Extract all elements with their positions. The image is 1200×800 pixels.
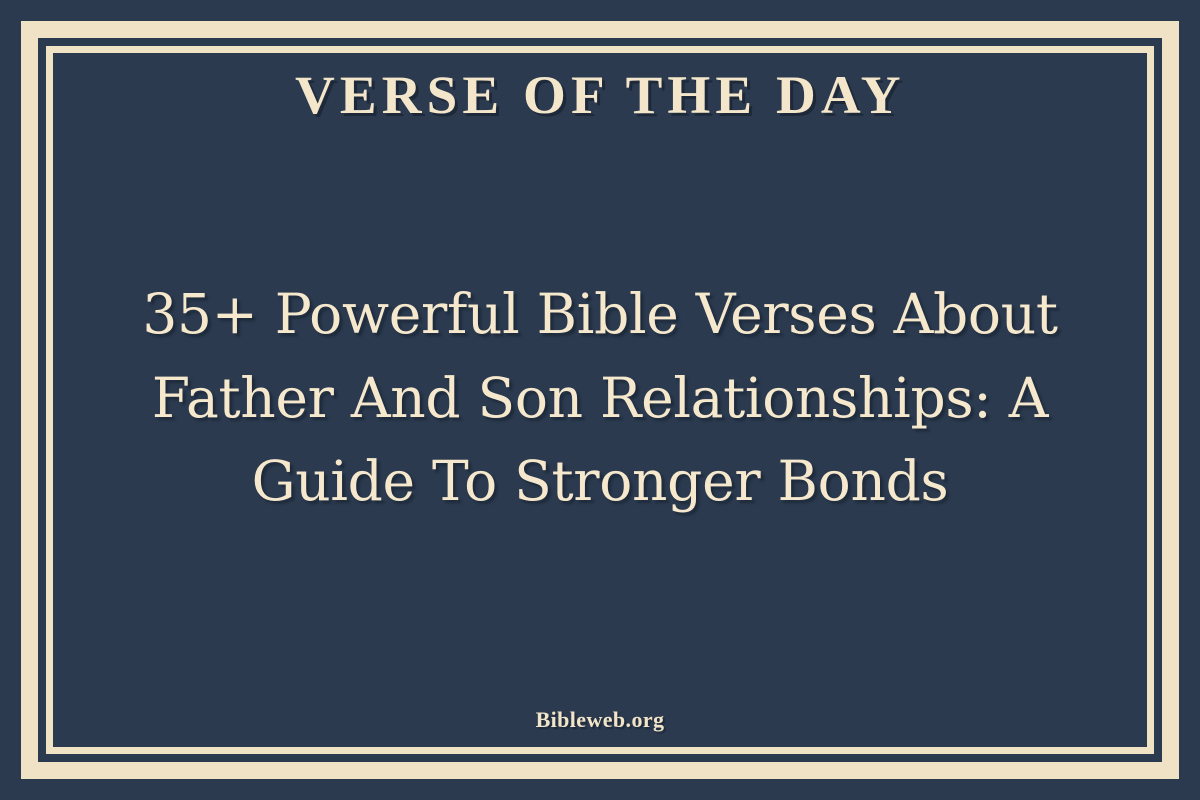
poster-source-attribution: Bibleweb.org (536, 707, 665, 733)
verse-of-the-day-poster: VERSE OF THE DAY 35+ Powerful Bible Vers… (0, 0, 1200, 800)
poster-headline: 35+ Powerful Bible Verses About Father A… (85, 273, 1115, 524)
headline-container: 35+ Powerful Bible Verses About Father A… (53, 124, 1147, 707)
poster-kicker-title: VERSE OF THE DAY (295, 67, 906, 124)
poster-content: VERSE OF THE DAY 35+ Powerful Bible Vers… (53, 53, 1147, 747)
